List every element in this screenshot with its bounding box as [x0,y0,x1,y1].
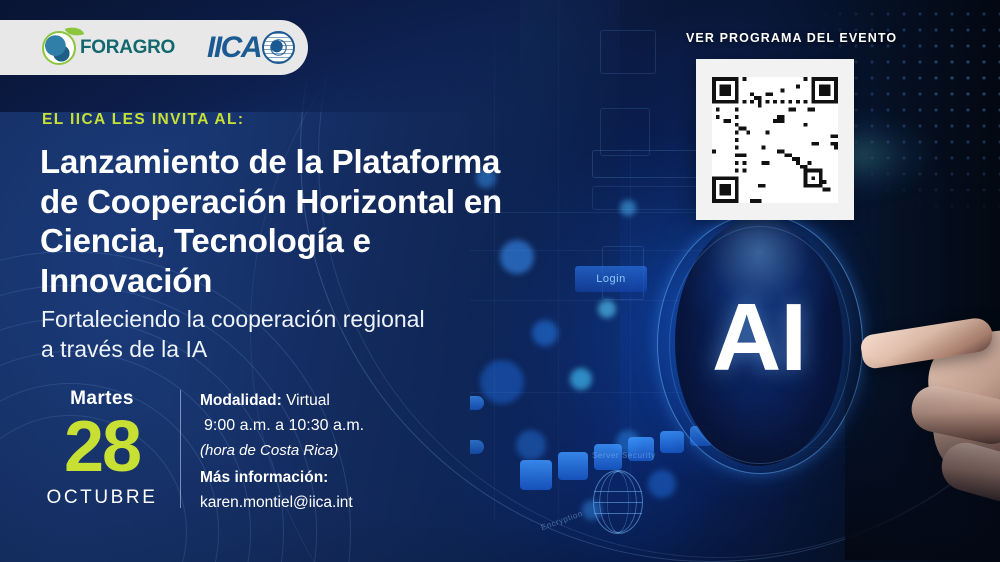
page-title: Lanzamiento de la Plataforma de Cooperac… [40,142,510,300]
iica-wordmark: IICA [207,31,261,65]
more-info-label: Más información: [200,469,328,486]
globe-leaf-icon [42,31,76,65]
modality-value: Virtual [286,392,330,409]
pointing-hand [845,300,1000,560]
kicker-text: EL IICA LES INVITA AL: [42,111,244,129]
date-block: Martes 28 OCTUBRE [40,388,164,509]
date-day-number: 28 [40,412,164,483]
foragro-wordmark: FORAGRO [80,37,175,59]
qr-code[interactable] [712,77,838,203]
qr-card[interactable] [696,59,854,220]
event-time: 9:00 a.m. a 10:30 a.m. [200,413,450,439]
qr-label: VER PROGRAMA DEL EVENTO [686,31,897,45]
date-month: OCTUBRE [40,487,164,509]
event-flyer: Devices Server Security Encryption Login… [0,0,1000,562]
logo-bar: FORAGRO IICA [0,20,308,75]
ai-inner-ring [669,226,851,464]
more-info-row: Más información: [200,465,450,490]
event-details: Modalidad: Virtual 9:00 a.m. a 10:30 a.m… [200,388,450,516]
vertical-divider [180,390,181,508]
modality-label: Modalidad: [200,392,282,409]
modality-row: Modalidad: Virtual [200,388,450,413]
iica-seal-icon [262,31,295,64]
contact-email[interactable]: karen.montiel@iica.int [200,490,450,515]
subtitle: Fortaleciendo la cooperación regional a … [41,304,441,365]
foragro-logo: FORAGRO [42,31,175,65]
iica-logo: IICA [207,31,295,65]
event-timezone: (hora de Costa Rica) [200,439,450,463]
